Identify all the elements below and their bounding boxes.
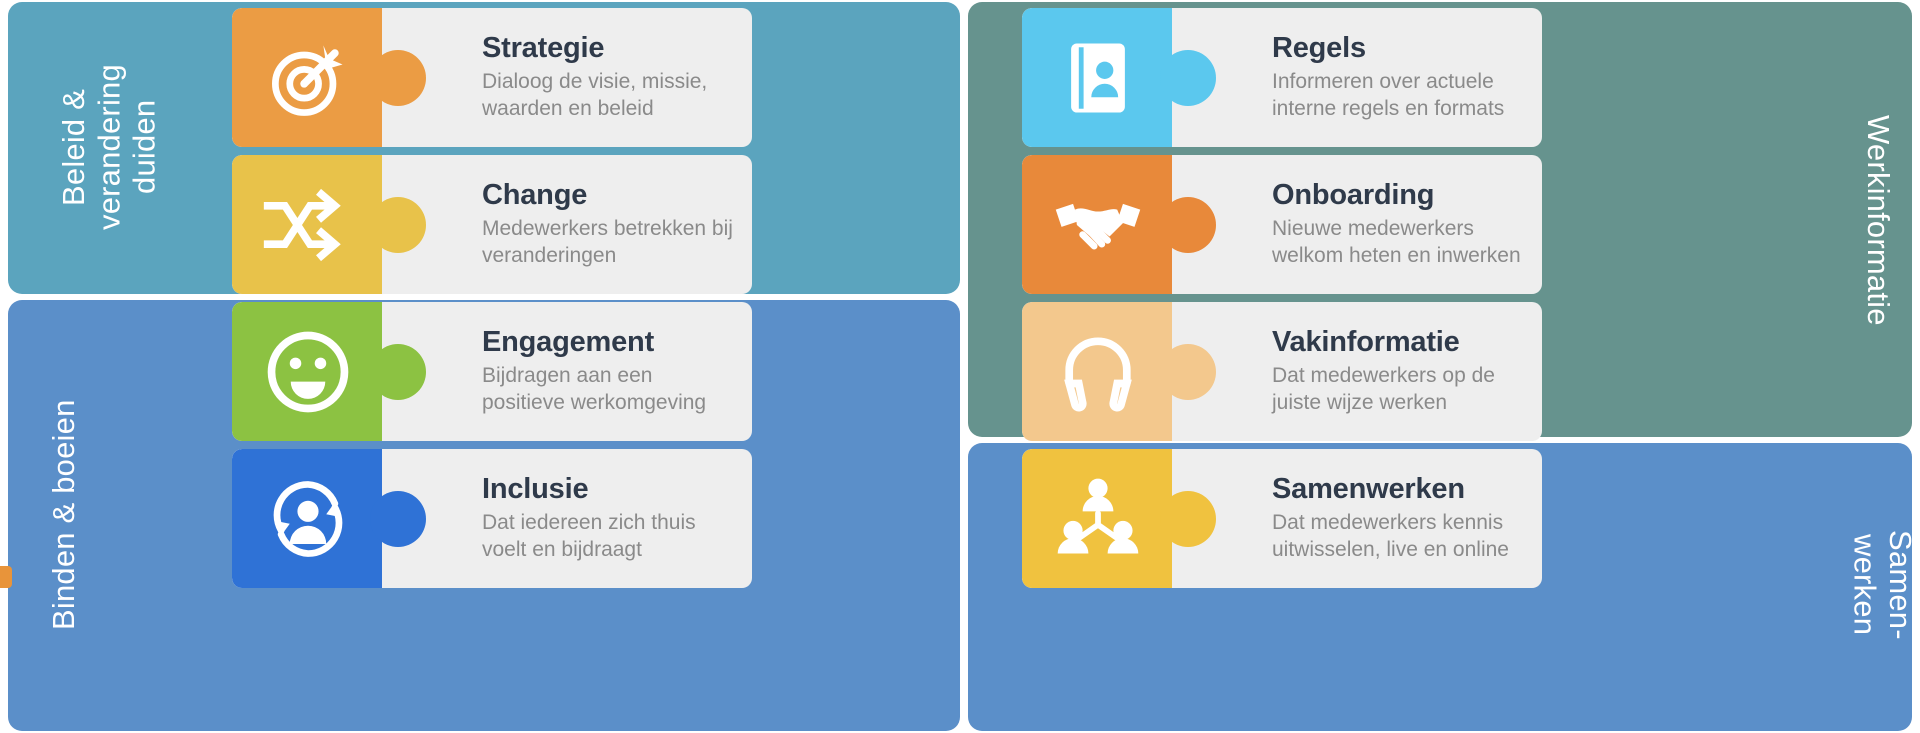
card-title: Samenwerken xyxy=(1272,473,1528,505)
card-title: Engagement xyxy=(482,326,738,358)
card-text: Inclusie Dat iedereen zich thuis voelt e… xyxy=(482,449,738,588)
group-label-beleid: Beleid & verandering duiden xyxy=(56,22,186,272)
infographic-canvas: Beleid & verandering duiden Binden & boe… xyxy=(0,0,1920,733)
card-text: Vakinformatie Dat medewerkers op de juis… xyxy=(1272,302,1528,441)
card-title: Regels xyxy=(1272,32,1528,64)
puzzle-knob xyxy=(1160,197,1216,253)
group-label-samenwerken: Samen- werken xyxy=(1828,452,1918,717)
card-onboarding[interactable]: Onboarding Nieuwe medewerkers welkom het… xyxy=(1022,155,1542,294)
card-description: Dialoog de visie, missie, waarden en bel… xyxy=(482,69,738,123)
puzzle-knob xyxy=(1160,491,1216,547)
card-title: Change xyxy=(482,179,738,211)
card-description: Bijdragen aan een positieve werkomgeving xyxy=(482,363,738,417)
edge-accent-marker xyxy=(0,566,12,588)
card-text: Strategie Dialoog de visie, missie, waar… xyxy=(482,8,738,147)
card-strategie[interactable]: Strategie Dialoog de visie, missie, waar… xyxy=(232,8,752,147)
card-inclusie[interactable]: Inclusie Dat iedereen zich thuis voelt e… xyxy=(232,449,752,588)
group-label-binden: Binden & boeien xyxy=(46,330,106,700)
group-label-werkinformatie: Werkinformatie xyxy=(1836,30,1896,410)
card-description: Dat medewerkers op de juiste wijze werke… xyxy=(1272,363,1528,417)
card-title: Inclusie xyxy=(482,473,738,505)
smiley-icon xyxy=(260,324,356,420)
card-change[interactable]: Change Medewerkers betrekken bij verande… xyxy=(232,155,752,294)
puzzle-knob xyxy=(370,344,426,400)
card-vakinformatie[interactable]: Vakinformatie Dat medewerkers op de juis… xyxy=(1022,302,1542,441)
card-samenwerken[interactable]: Samenwerken Dat medewerkers kennis uitwi… xyxy=(1022,449,1542,588)
people-network-icon xyxy=(1050,471,1146,567)
card-description: Dat iedereen zich thuis voelt en bijdraa… xyxy=(482,510,738,564)
card-title: Onboarding xyxy=(1272,179,1528,211)
card-engagement[interactable]: Engagement Bijdragen aan een positieve w… xyxy=(232,302,752,441)
card-title: Strategie xyxy=(482,32,738,64)
puzzle-knob xyxy=(1160,344,1216,400)
card-description: Informeren over actuele interne regels e… xyxy=(1272,69,1528,123)
handshake-icon xyxy=(1050,177,1146,273)
puzzle-knob xyxy=(370,50,426,106)
puzzle-knob xyxy=(370,491,426,547)
card-text: Change Medewerkers betrekken bij verande… xyxy=(482,155,738,294)
person-circle-arrows-icon xyxy=(260,471,356,567)
card-description: Medewerkers betrekken bij veranderingen xyxy=(482,216,738,270)
card-regels[interactable]: Regels Informeren over actuele interne r… xyxy=(1022,8,1542,147)
headset-icon xyxy=(1050,324,1146,420)
puzzle-knob xyxy=(1160,50,1216,106)
card-text: Regels Informeren over actuele interne r… xyxy=(1272,8,1528,147)
puzzle-knob xyxy=(370,197,426,253)
id-card-icon xyxy=(1050,30,1146,126)
target-icon xyxy=(260,30,356,126)
card-description: Nieuwe medewerkers welkom heten en inwer… xyxy=(1272,216,1528,270)
card-title: Vakinformatie xyxy=(1272,326,1528,358)
card-text: Engagement Bijdragen aan een positieve w… xyxy=(482,302,738,441)
shuffle-icon xyxy=(260,177,356,273)
card-text: Samenwerken Dat medewerkers kennis uitwi… xyxy=(1272,449,1528,588)
card-text: Onboarding Nieuwe medewerkers welkom het… xyxy=(1272,155,1528,294)
card-description: Dat medewerkers kennis uitwisselen, live… xyxy=(1272,510,1528,564)
